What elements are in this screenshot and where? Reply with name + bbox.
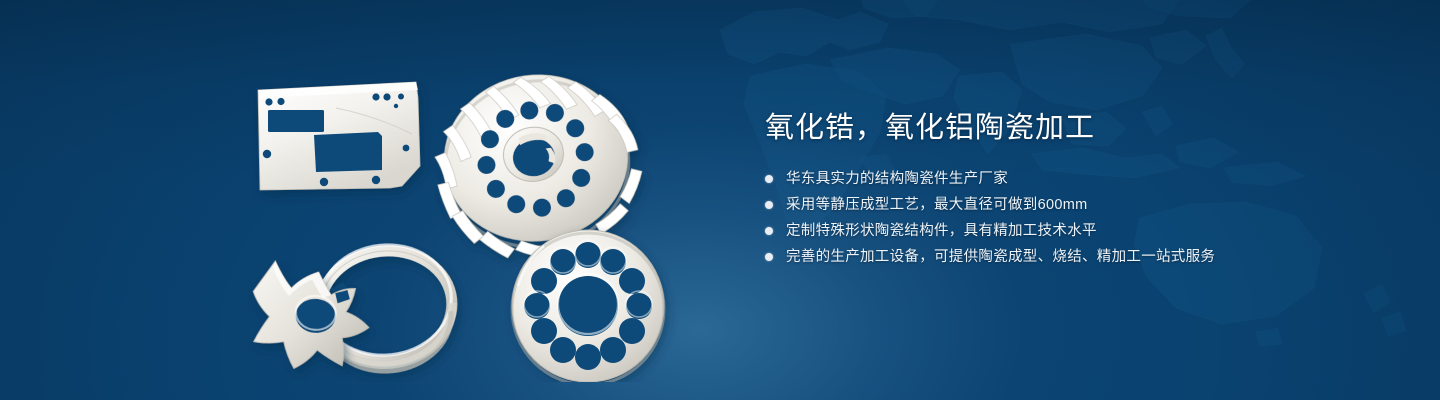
banner-text-block: 氧化锆，氧化铝陶瓷加工 华东具实力的结构陶瓷件生产厂家 采用等静压成型工艺，最大… xyxy=(765,108,1385,274)
list-item: 采用等静压成型工艺，最大直径可做到600mm xyxy=(765,196,1385,214)
list-item: 完善的生产加工设备，可提供陶瓷成型、烧结、精加工一站式服务 xyxy=(765,248,1385,266)
ceramic-perforated-disc xyxy=(512,230,664,382)
list-item: 华东具实力的结构陶瓷件生产厂家 xyxy=(765,170,1385,188)
bullet-dot-icon xyxy=(765,227,773,235)
list-item-label: 定制特殊形状陶瓷结构件，具有精加工技术水平 xyxy=(786,222,1097,240)
bullet-dot-icon xyxy=(765,201,773,209)
bullet-dot-icon xyxy=(765,175,773,183)
list-item-label: 华东具实力的结构陶瓷件生产厂家 xyxy=(786,170,1008,188)
page-title: 氧化锆，氧化铝陶瓷加工 xyxy=(765,108,1385,148)
bullet-dot-icon xyxy=(765,253,773,261)
list-item-label: 完善的生产加工设备，可提供陶瓷成型、烧结、精加工一站式服务 xyxy=(786,248,1215,266)
feature-list: 华东具实力的结构陶瓷件生产厂家 采用等静压成型工艺，最大直径可做到600mm 定… xyxy=(765,170,1385,266)
ceramic-parts-photo xyxy=(236,38,696,382)
list-item: 定制特殊形状陶瓷结构件，具有精加工技术水平 xyxy=(765,222,1385,240)
list-item-label: 采用等静压成型工艺，最大直径可做到600mm xyxy=(786,196,1087,214)
hero-banner: 氧化锆，氧化铝陶瓷加工 华东具实力的结构陶瓷件生产厂家 采用等静压成型工艺，最大… xyxy=(0,0,1440,400)
ceramic-flat-plate xyxy=(258,82,420,190)
